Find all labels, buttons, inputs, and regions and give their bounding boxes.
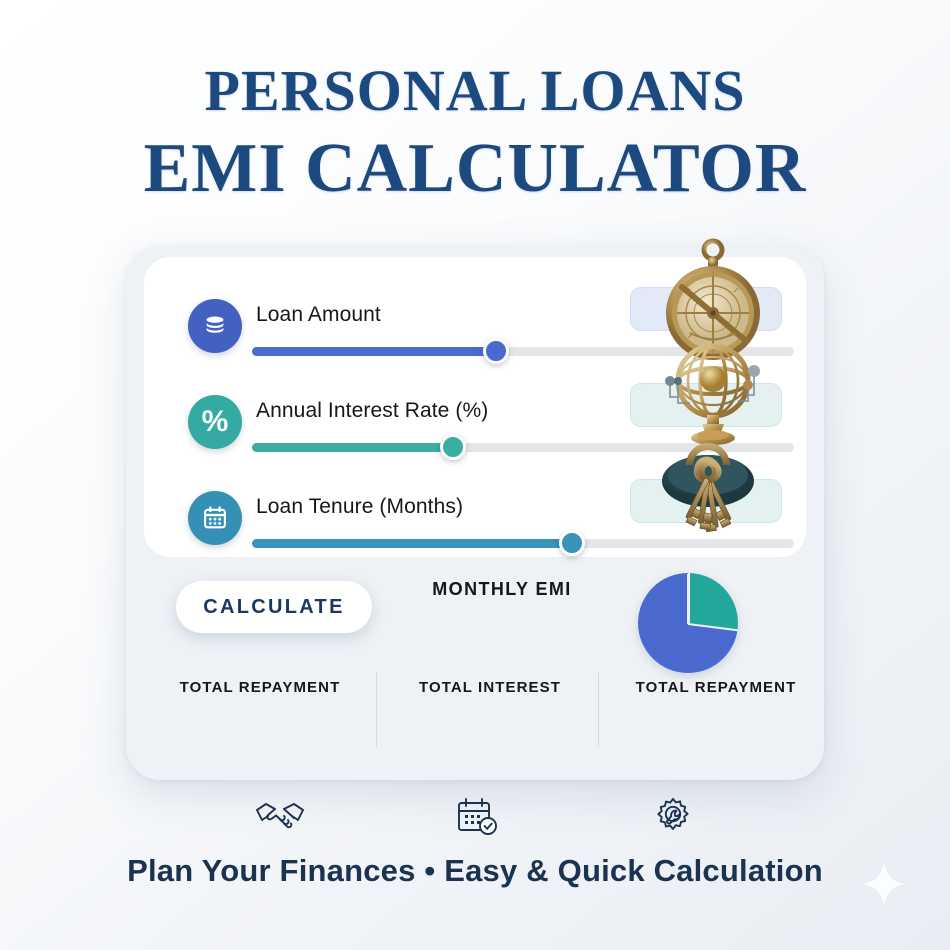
slider-label: Annual Interest Rate (%) <box>256 399 488 423</box>
calculator-card: Loan Amount % Annual Interest Rate (%) <box>126 245 824 780</box>
slider-thumb[interactable] <box>440 434 466 460</box>
results-panel: CALCULATE MONTHLY EMI TOTAL REPAYMENT TO… <box>126 557 824 780</box>
loan-tenure-slider[interactable] <box>252 537 794 549</box>
stat-total-repayment-right: TOTAL REPAYMENT <box>608 679 824 696</box>
monthly-emi-label: MONTHLY EMI <box>402 579 602 600</box>
footer-tagline: Plan Your Finances • Easy & Quick Calcul… <box>0 853 950 889</box>
sparkle-decoration <box>860 860 908 908</box>
slider-label: Loan Amount <box>256 303 381 327</box>
pie-separator <box>688 623 738 631</box>
page-title: PERSONAL LOANS EMI CALCULATOR <box>0 0 950 204</box>
gear-wrench-icon <box>650 795 696 839</box>
handshake-icon <box>254 795 306 839</box>
slider-thumb[interactable] <box>559 530 585 556</box>
interest-rate-slider[interactable] <box>252 441 794 453</box>
repayment-pie-chart <box>638 573 738 673</box>
calendar-icon <box>188 491 242 545</box>
calculate-button[interactable]: CALCULATE <box>176 581 372 633</box>
slider-fill <box>252 443 453 452</box>
title-line-2: EMI CALCULATOR <box>0 134 950 204</box>
footer: Plan Your Finances • Easy & Quick Calcul… <box>0 795 950 889</box>
percent-icon: % <box>188 395 242 449</box>
stat-divider <box>598 673 599 747</box>
coins-stack-icon <box>188 299 242 353</box>
slider-thumb[interactable] <box>483 338 509 364</box>
slider-fill <box>252 539 572 548</box>
slider-label: Loan Tenure (Months) <box>256 495 463 519</box>
footer-icon-row <box>0 795 950 839</box>
inputs-panel: Loan Amount % Annual Interest Rate (%) <box>144 257 806 557</box>
slider-row-interest-rate: % Annual Interest Rate (%) <box>144 385 806 477</box>
calendar-check-icon <box>454 795 502 839</box>
stat-divider <box>376 673 377 747</box>
slider-fill <box>252 347 496 356</box>
stat-total-interest: TOTAL INTEREST <box>388 679 592 696</box>
title-line-1: PERSONAL LOANS <box>0 62 950 120</box>
slider-row-loan-amount: Loan Amount <box>144 289 806 381</box>
loan-amount-slider[interactable] <box>252 345 794 357</box>
pie-separator <box>687 574 689 624</box>
stat-total-repayment-left: TOTAL REPAYMENT <box>152 679 368 696</box>
stats-row: TOTAL REPAYMENT TOTAL INTEREST TOTAL REP… <box>126 679 824 769</box>
